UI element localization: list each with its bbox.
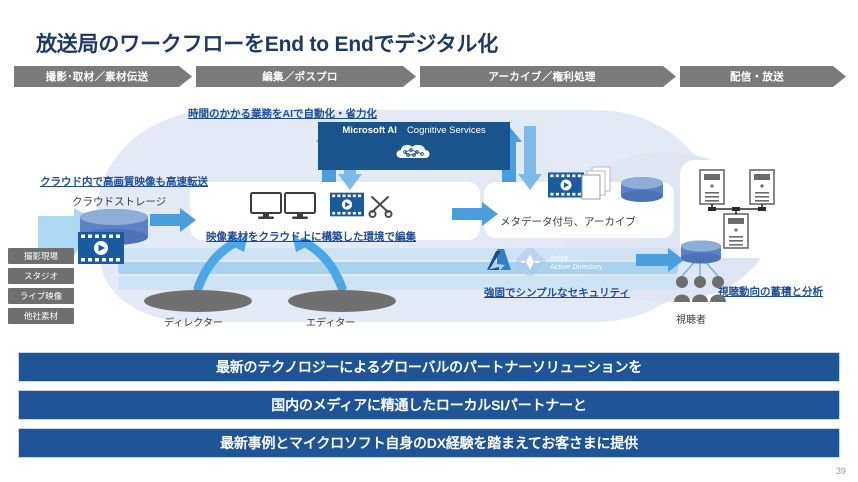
callout-security: 強固でシンプルなセキュリティ	[484, 285, 630, 300]
monitor-icon	[250, 192, 282, 220]
server-network-icon	[694, 168, 786, 250]
director-stand	[144, 290, 252, 312]
banner-2: 最新事例とマイクロソフト自身のDX経験を踏まえてお客さまに提供	[18, 428, 840, 458]
callout-cloud-transfer: クラウド内で高画質映像も高速転送	[40, 174, 208, 189]
azure-active-directory-icon: Azure Active Directory	[516, 248, 632, 276]
slide-root: 放送局のワークフローをEnd to Endでデジタル化 撮影･取材／素材伝送 編…	[0, 0, 858, 482]
azure-ad-line1: Azure	[550, 255, 568, 262]
ai-brand-label: Microsoft AI	[342, 125, 397, 136]
phase-chevron-0[interactable]: 撮影･取材／素材伝送	[14, 66, 192, 87]
azure-ad-line2: Active Directory	[550, 262, 603, 271]
banner-1: 国内のメディアに精通したローカルSIパートナーと	[18, 390, 840, 420]
video-clip-icon	[78, 232, 124, 264]
documents-stack-icon	[578, 166, 612, 200]
page-title: 放送局のワークフローをEnd to Endでデジタル化	[36, 28, 498, 58]
source-chip-0[interactable]: 撮影現場	[8, 248, 74, 264]
phase-chevron-1[interactable]: 編集／ポスプロ	[196, 66, 416, 87]
phase-chevron-3[interactable]: 配信・放送	[680, 66, 846, 87]
editor-stand	[288, 290, 396, 312]
callout-ai: 時間のかかる業務をAIで自動化・省力化	[188, 106, 377, 121]
source-chip-2[interactable]: ライブ映像	[8, 288, 74, 304]
database-cylinder-icon	[680, 240, 722, 266]
database-cylinder-icon	[620, 176, 664, 204]
audience-people-icon	[672, 274, 732, 302]
banner-0: 最新のテクノロジーによるグローバルのパートナーソリューションを	[18, 352, 840, 382]
monitor-icon	[284, 192, 316, 220]
callout-edit: 映像素材をクラウド上に構築した環境で編集	[206, 229, 416, 244]
phase-chevron-2[interactable]: アーカイブ／権利処理	[420, 66, 676, 87]
azure-logo-icon	[486, 248, 512, 272]
scissors-icon	[368, 194, 394, 218]
callout-viewing: 視聴動向の蓄積と分析	[718, 284, 823, 299]
brain-cloud-icon	[393, 142, 435, 166]
microsoft-ai-box: Microsoft AI Cognitive Services	[318, 122, 510, 170]
label-cloud-storage: クラウドストレージ	[72, 194, 166, 209]
label-metadata-archive: メタデータ付与、アーカイブ	[500, 214, 636, 229]
label-editor: エディター	[306, 314, 355, 329]
ai-service-label: Cognitive Services	[407, 125, 486, 136]
source-chip-1[interactable]: スタジオ	[8, 268, 74, 284]
source-chip-3[interactable]: 他社素材	[8, 308, 74, 324]
page-number: 39	[836, 466, 846, 476]
label-audience: 視聴者	[676, 311, 706, 326]
workflow-diagram: Microsoft AI Cognitive Services 時間のかかる業務…	[0, 96, 858, 336]
video-clip-icon	[330, 192, 364, 217]
label-director: ディレクター	[164, 314, 223, 329]
